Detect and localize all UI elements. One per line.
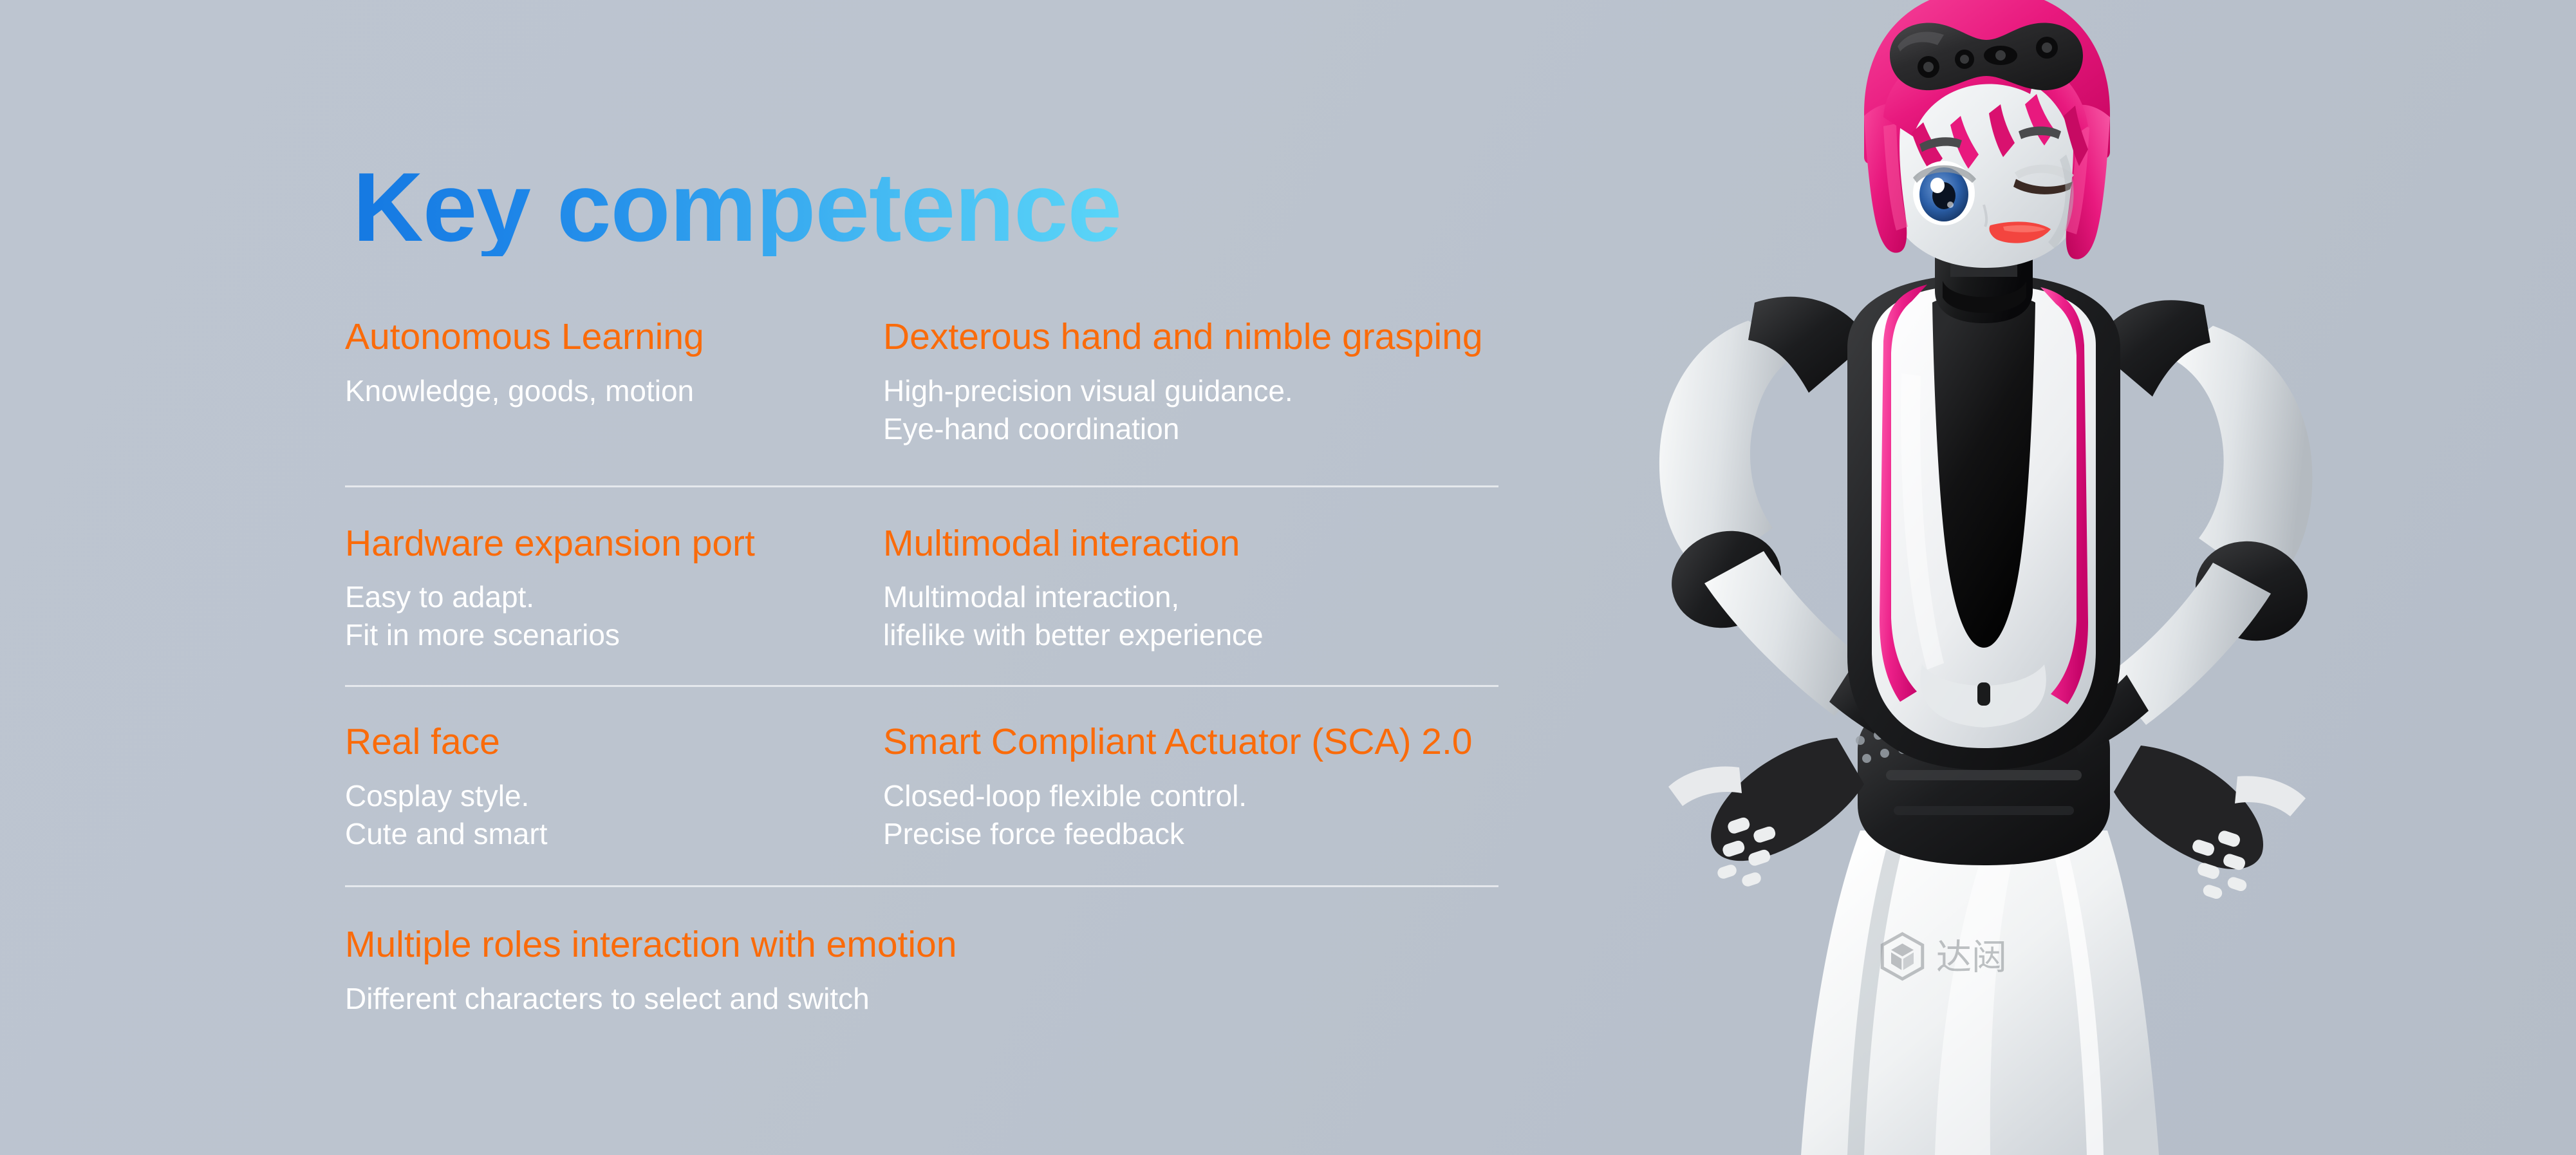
feature-body: Easy to adapt. Fit in more scenarios	[345, 578, 883, 654]
feature-item-hardware-expansion-port: Hardware expansion port Easy to adapt. F…	[345, 523, 883, 655]
feature-heading: Multiple roles interaction with emotion	[345, 925, 1498, 966]
robot-head	[1864, 0, 2110, 268]
feature-body: Closed-loop flexible control. Precise fo…	[883, 777, 1498, 853]
brand-logo-text: 达闼	[1936, 937, 2007, 978]
feature-heading: Hardware expansion port	[345, 523, 883, 565]
feature-body: Knowledge, goods, motion	[345, 372, 883, 410]
feature-heading: Autonomous Learning	[345, 317, 883, 358]
feature-row-4: Multiple roles interaction with emotion …	[345, 885, 1498, 1044]
feature-heading: Smart Compliant Actuator (SCA) 2.0	[883, 722, 1498, 763]
robot-illustration: 达闼	[1500, 0, 2576, 1155]
robot-right-hand	[2114, 746, 2306, 900]
feature-item-dexterous-hand: Dexterous hand and nimble grasping High-…	[883, 317, 1498, 448]
robot-torso	[1847, 274, 2120, 770]
feature-row-1: Autonomous Learning Knowledge, goods, mo…	[345, 303, 1498, 485]
robot-left-hand	[1668, 738, 1864, 888]
feature-grid: Autonomous Learning Knowledge, goods, mo…	[345, 303, 1498, 1043]
feature-heading: Multimodal interaction	[883, 523, 1498, 565]
feature-item-multiple-roles-interaction: Multiple roles interaction with emotion …	[345, 925, 1498, 1018]
page-title: Key competence	[353, 158, 1121, 256]
feature-row-3: Real face Cosplay style. Cute and smart …	[345, 685, 1498, 885]
robot-lower-body	[1801, 831, 2159, 1155]
feature-body: Different characters to select and switc…	[345, 980, 1498, 1018]
feature-row-2: Hardware expansion port Easy to adapt. F…	[345, 485, 1498, 686]
feature-item-autonomous-learning: Autonomous Learning Knowledge, goods, mo…	[345, 317, 883, 448]
feature-body: Multimodal interaction, lifelike with be…	[883, 578, 1498, 654]
feature-body: High-precision visual guidance. Eye-hand…	[883, 372, 1498, 448]
feature-body: Cosplay style. Cute and smart	[345, 777, 883, 853]
feature-heading: Real face	[345, 722, 883, 763]
feature-item-real-face: Real face Cosplay style. Cute and smart	[345, 722, 883, 853]
feature-item-smart-compliant-actuator: Smart Compliant Actuator (SCA) 2.0 Close…	[883, 722, 1498, 853]
slide-canvas: Key competence Autonomous Learning Knowl…	[0, 0, 2576, 1155]
feature-item-multimodal-interaction: Multimodal interaction Multimodal intera…	[883, 523, 1498, 655]
feature-heading: Dexterous hand and nimble grasping	[883, 317, 1498, 358]
